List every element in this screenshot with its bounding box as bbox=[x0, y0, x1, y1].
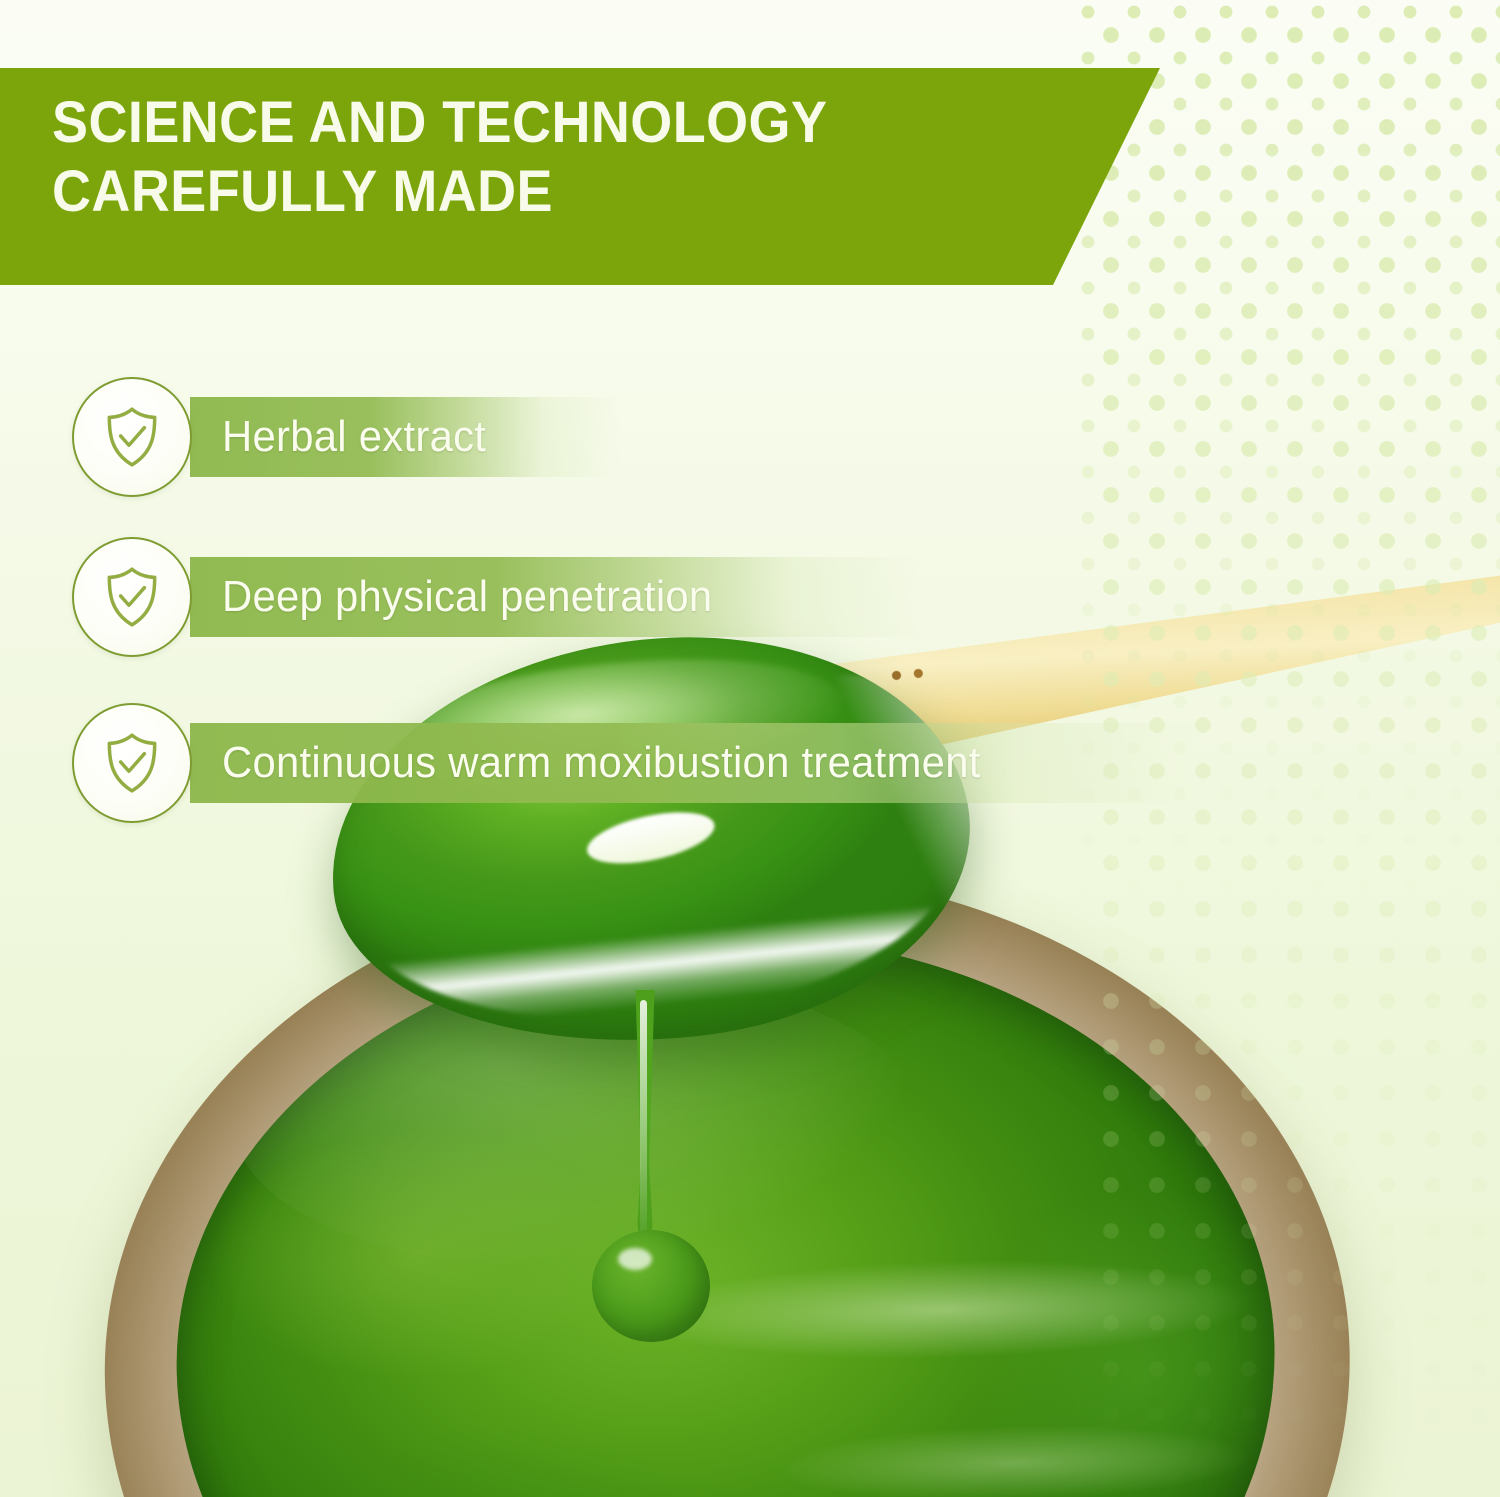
spoon-highlight-dot bbox=[583, 803, 719, 873]
feature-badge-2 bbox=[72, 537, 192, 657]
product-feature-banner: SCIENCE AND TECHNOLOGY CAREFULLY MADE He… bbox=[0, 0, 1500, 1497]
paste-drip-blob bbox=[592, 1230, 710, 1342]
shield-check-icon bbox=[99, 404, 165, 470]
paste-drip-blob-highlight bbox=[618, 1248, 652, 1270]
feature-label-1: Herbal extract bbox=[222, 412, 486, 462]
feature-label-3: Continuous warm moxibustion treatment bbox=[222, 738, 981, 788]
shield-check-icon bbox=[99, 730, 165, 796]
paste-drip-highlight bbox=[640, 1000, 647, 1250]
feature-badge-3 bbox=[72, 703, 192, 823]
feature-badge-1 bbox=[72, 377, 192, 497]
page-title: SCIENCE AND TECHNOLOGY CAREFULLY MADE bbox=[52, 88, 1019, 226]
feature-label-2: Deep physical penetration bbox=[222, 572, 712, 622]
shield-check-icon bbox=[99, 564, 165, 630]
